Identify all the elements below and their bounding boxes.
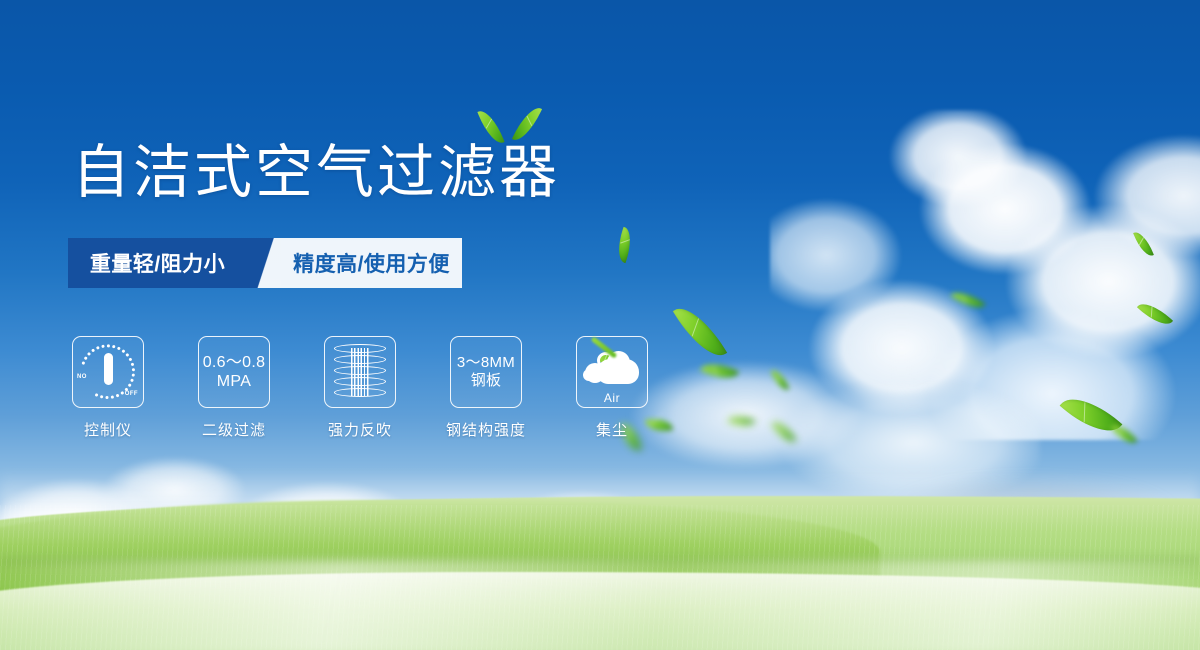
steel-thickness: 3～8MM — [457, 354, 515, 372]
leaf-icon — [771, 367, 790, 393]
subtitle-left-text: 重量轻/阻力小 — [90, 248, 225, 278]
pressure-unit: MPA — [203, 372, 266, 391]
feature-caption: 控制仪 — [84, 419, 132, 440]
pressure-value: 0.6～0.8 — [203, 353, 266, 372]
gauge-needle — [104, 353, 113, 385]
gauge-label-off: OFF — [125, 391, 138, 397]
feature-caption: 集尘 — [596, 419, 628, 440]
leaf-icon — [645, 416, 673, 433]
feature-item-filtration[interactable]: 0.6～0.8 MPA 二级过滤 — [198, 336, 270, 440]
feature-item-controller[interactable]: NO OFF 控制仪 — [72, 336, 144, 440]
leaf-icon — [700, 357, 739, 385]
subtitle-segment-right: 精度高/使用方便 — [281, 238, 462, 288]
feature-icon-box: 3～8MM 钢板 — [450, 336, 522, 408]
leaf-icon — [950, 286, 985, 314]
leaf-icon — [771, 417, 797, 447]
air-label: Air — [583, 391, 641, 405]
leaf-icon — [673, 299, 727, 366]
filter-stack-icon — [334, 344, 386, 400]
pressure-text-icon: 0.6～0.8 MPA — [203, 353, 266, 391]
subtitle-divider — [253, 238, 281, 288]
leaf-icon — [1137, 297, 1173, 331]
feature-caption: 二级过滤 — [202, 419, 266, 440]
sprout-icon — [480, 102, 550, 150]
feature-icon-box — [324, 336, 396, 408]
feature-list: NO OFF 控制仪 0.6～0.8 MPA 二级过滤 — [72, 336, 648, 440]
hero-banner: 自洁式空气过滤器 重量轻/阻力小 精度高/使用方便 — [0, 0, 1200, 650]
feature-caption: 强力反吹 — [328, 419, 392, 440]
leaf-icon — [1110, 419, 1137, 448]
grass-light-sheen — [0, 560, 1200, 650]
leaf-icon — [727, 411, 755, 430]
leaf-icon — [1133, 229, 1154, 259]
subtitle-segment-left: 重量轻/阻力小 — [68, 238, 253, 288]
air-cloud-icon: Air — [583, 349, 641, 395]
leaf-icon — [1060, 386, 1123, 444]
feature-item-steel[interactable]: 3～8MM 钢板 钢结构强度 — [450, 336, 522, 440]
leaf-icon — [613, 227, 636, 263]
feature-icon-box: Air — [576, 336, 648, 408]
feature-icon-box: NO OFF — [72, 336, 144, 408]
steel-material: 钢板 — [457, 372, 515, 390]
feature-icon-box: 0.6～0.8 MPA — [198, 336, 270, 408]
steel-text-icon: 3～8MM 钢板 — [457, 354, 515, 390]
subtitle-right-text: 精度高/使用方便 — [293, 248, 450, 278]
gauge-label-no: NO — [77, 374, 87, 380]
gauge-icon: NO OFF — [77, 341, 139, 403]
feature-caption: 钢结构强度 — [446, 419, 526, 440]
subtitle-bar: 重量轻/阻力小 精度高/使用方便 — [68, 238, 462, 288]
feature-item-dust[interactable]: Air 集尘 — [576, 336, 648, 440]
title-block: 自洁式空气过滤器 — [72, 140, 560, 206]
cloud-cumulus-right — [770, 110, 1200, 440]
feature-item-blowback[interactable]: 强力反吹 — [324, 336, 396, 440]
